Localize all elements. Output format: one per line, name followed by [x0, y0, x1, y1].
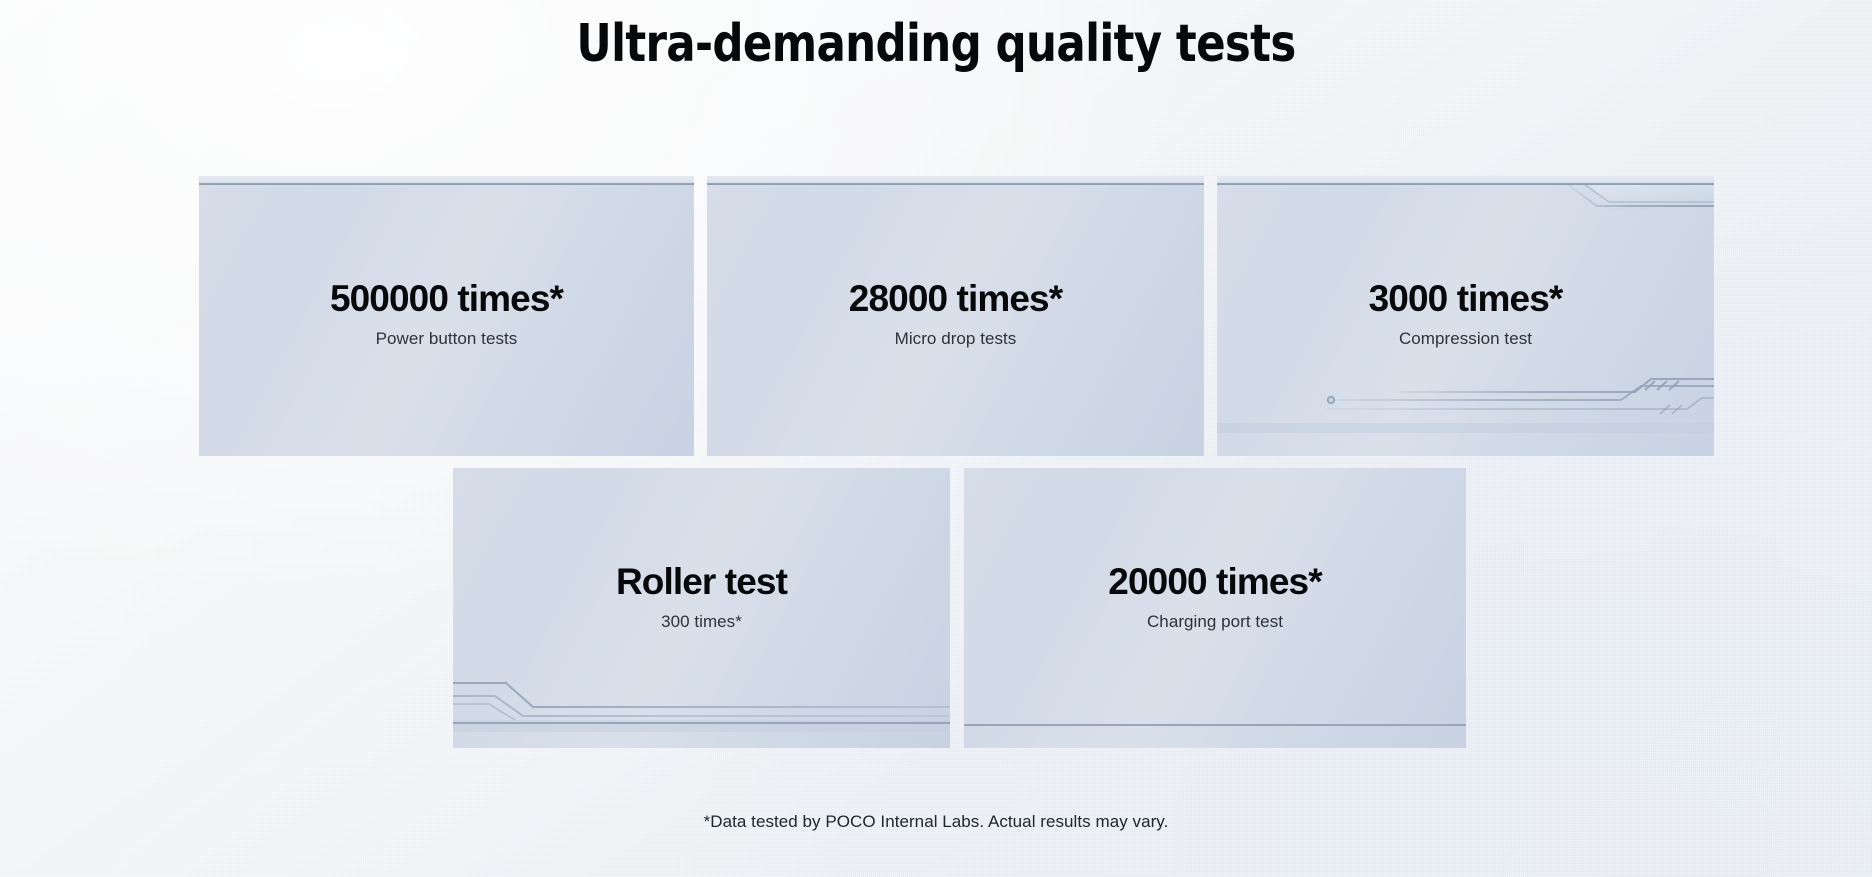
card-value: 20000 times* [1108, 562, 1321, 603]
card-label: Power button tests [376, 329, 518, 349]
page-title: Ultra-demanding quality tests [66, 14, 1807, 75]
quality-card-roller: Roller test 300 times* [453, 468, 950, 748]
quality-tests-page: Ultra-demanding quality tests 500000 tim… [0, 0, 1872, 877]
card-row-2: Roller test 300 times* 20000 times* Char… [453, 468, 1466, 748]
card-value: 3000 times* [1369, 279, 1563, 320]
card-row-1: 500000 times* Power button tests 28000 t… [199, 176, 1714, 456]
quality-card-compression: 3000 times* Compression test [1217, 176, 1714, 456]
card-value: Roller test [616, 562, 787, 603]
card-value: 500000 times* [330, 279, 563, 320]
card-value: 28000 times* [849, 279, 1062, 320]
quality-card-charging-port: 20000 times* Charging port test [964, 468, 1466, 748]
card-label: Micro drop tests [895, 329, 1017, 349]
quality-card-power-button: 500000 times* Power button tests [199, 176, 694, 456]
card-label: 300 times* [661, 612, 742, 632]
card-label: Compression test [1399, 329, 1532, 349]
quality-card-micro-drop: 28000 times* Micro drop tests [707, 176, 1204, 456]
footnote-disclaimer: *Data tested by POCO Internal Labs. Actu… [0, 812, 1872, 832]
card-label: Charging port test [1147, 612, 1283, 632]
